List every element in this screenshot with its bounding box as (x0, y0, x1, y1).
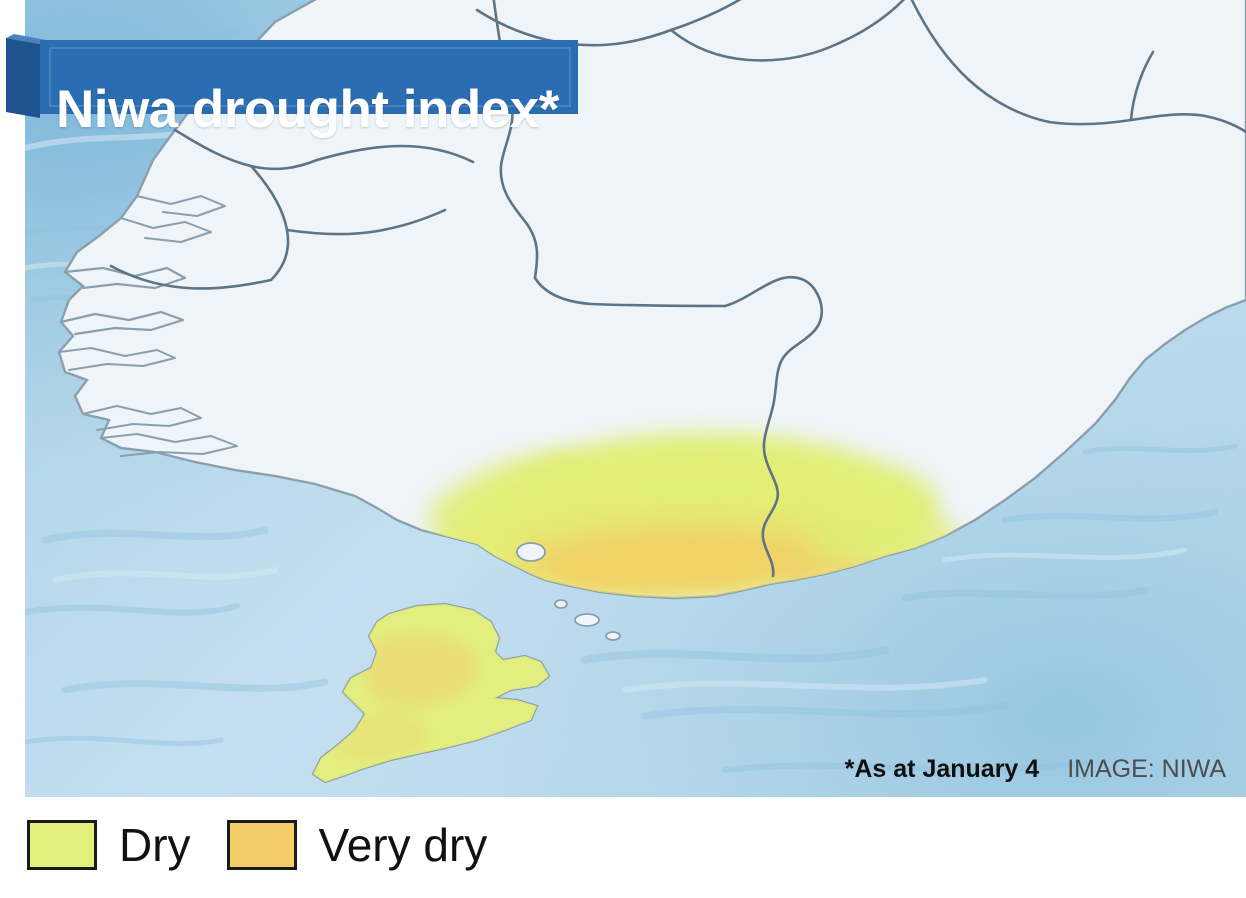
map-canvas (25, 0, 1246, 797)
legend-item-very-dry: Very dry (227, 820, 488, 870)
legend: Dry Very dry (27, 820, 487, 870)
caption-image-credit: IMAGE: NIWA (1067, 755, 1226, 784)
caption-asof-note: *As at January 4 (845, 755, 1040, 784)
island-4 (517, 543, 545, 561)
legend-label-very-dry: Very dry (319, 822, 488, 868)
legend-swatch-dry (27, 820, 97, 870)
island-3 (555, 600, 567, 608)
island-2 (606, 632, 620, 640)
caption: *As at January 4 IMAGE: NIWA (845, 755, 1226, 784)
island-1 (575, 614, 599, 626)
legend-item-dry: Dry (27, 820, 191, 870)
legend-label-dry: Dry (119, 822, 191, 868)
drought-index-figure: Niwa drought index* *As at January 4 IMA… (0, 0, 1246, 898)
legend-swatch-very-dry (227, 820, 297, 870)
drought-map (25, 0, 1246, 797)
